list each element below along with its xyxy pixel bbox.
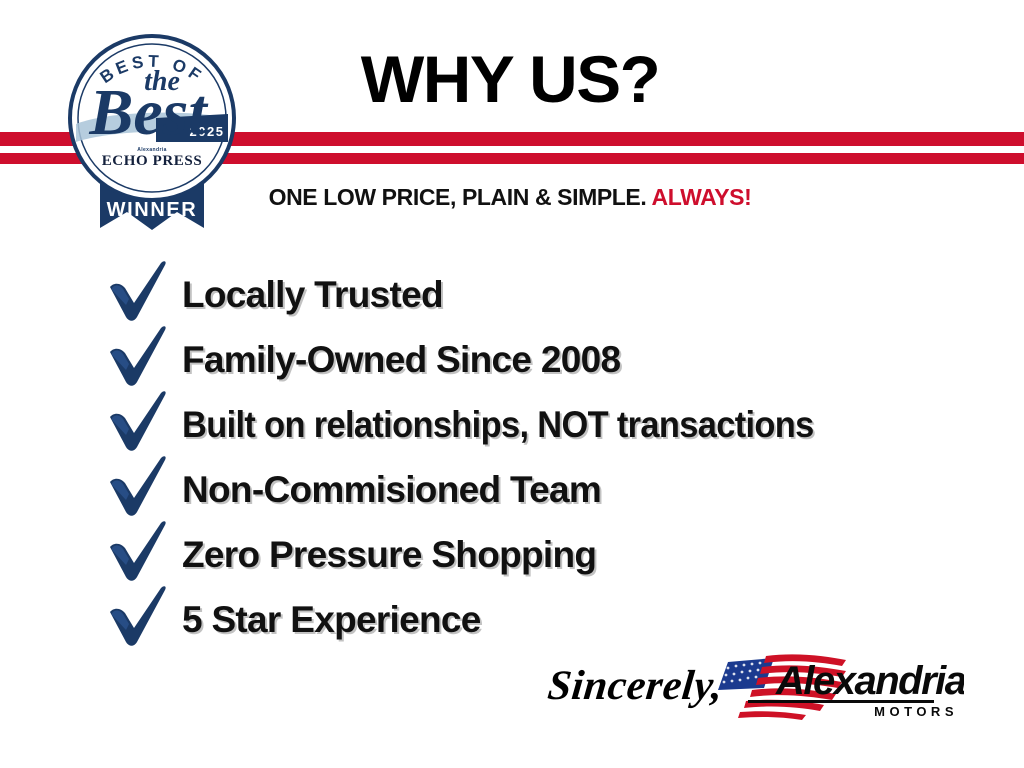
- brand-rule: [748, 700, 934, 703]
- list-item-label: Non-Commisioned Team: [182, 470, 601, 510]
- list-item-label: Locally Trusted: [182, 275, 443, 315]
- check-icon: [104, 261, 176, 323]
- check-icon: [104, 456, 176, 518]
- brand-name: Alexandria: [775, 659, 964, 703]
- list-item: Locally Trusted: [104, 262, 1004, 327]
- list-item-label: Zero Pressure Shopping: [182, 535, 596, 575]
- page-title: WHY US?: [224, 44, 795, 114]
- list-item-label: Family-Owned Since 2008: [182, 340, 620, 380]
- list-item: 5 Star Experience: [104, 587, 1004, 652]
- check-icon: [104, 326, 176, 388]
- badge-publisher: ECHO PRESS: [102, 153, 203, 169]
- list-item: Non-Commisioned Team: [104, 457, 1004, 522]
- badge-winner-label: WINNER: [107, 199, 198, 221]
- badge-script-large: Best: [88, 76, 208, 149]
- list-item-label: 5 Star Experience: [182, 600, 481, 640]
- signature-text: Sincerely,: [546, 663, 726, 709]
- tagline-emphasis: ALWAYS!: [652, 184, 752, 210]
- list-item: Family-Owned Since 2008: [104, 327, 1004, 392]
- tagline: ONE LOW PRICE, PLAIN & SIMPLE. ALWAYS!: [230, 184, 790, 210]
- check-icon: [104, 391, 176, 453]
- list-item: Built on relationships, NOT transactions: [104, 392, 1004, 457]
- check-icon: [104, 586, 176, 648]
- list-item-label: Built on relationships, NOT transactions: [182, 405, 814, 445]
- alexandria-motors-logo: Alexandria MOTORS: [706, 650, 964, 728]
- list-item: Zero Pressure Shopping: [104, 522, 1004, 587]
- check-icon: [104, 521, 176, 583]
- best-of-the-best-badge: BEST OF 2025 the Best Alexandria ECHO PR…: [52, 18, 252, 240]
- benefits-list: Locally Trusted Family-Owned Since 2008 …: [104, 262, 1004, 652]
- slide-canvas: WHY US? ONE LOW PRICE, PLAIN & SIMPLE. A…: [0, 0, 1024, 768]
- tagline-main: ONE LOW PRICE, PLAIN & SIMPLE.: [269, 184, 647, 210]
- brand-sub: MOTORS: [874, 704, 958, 719]
